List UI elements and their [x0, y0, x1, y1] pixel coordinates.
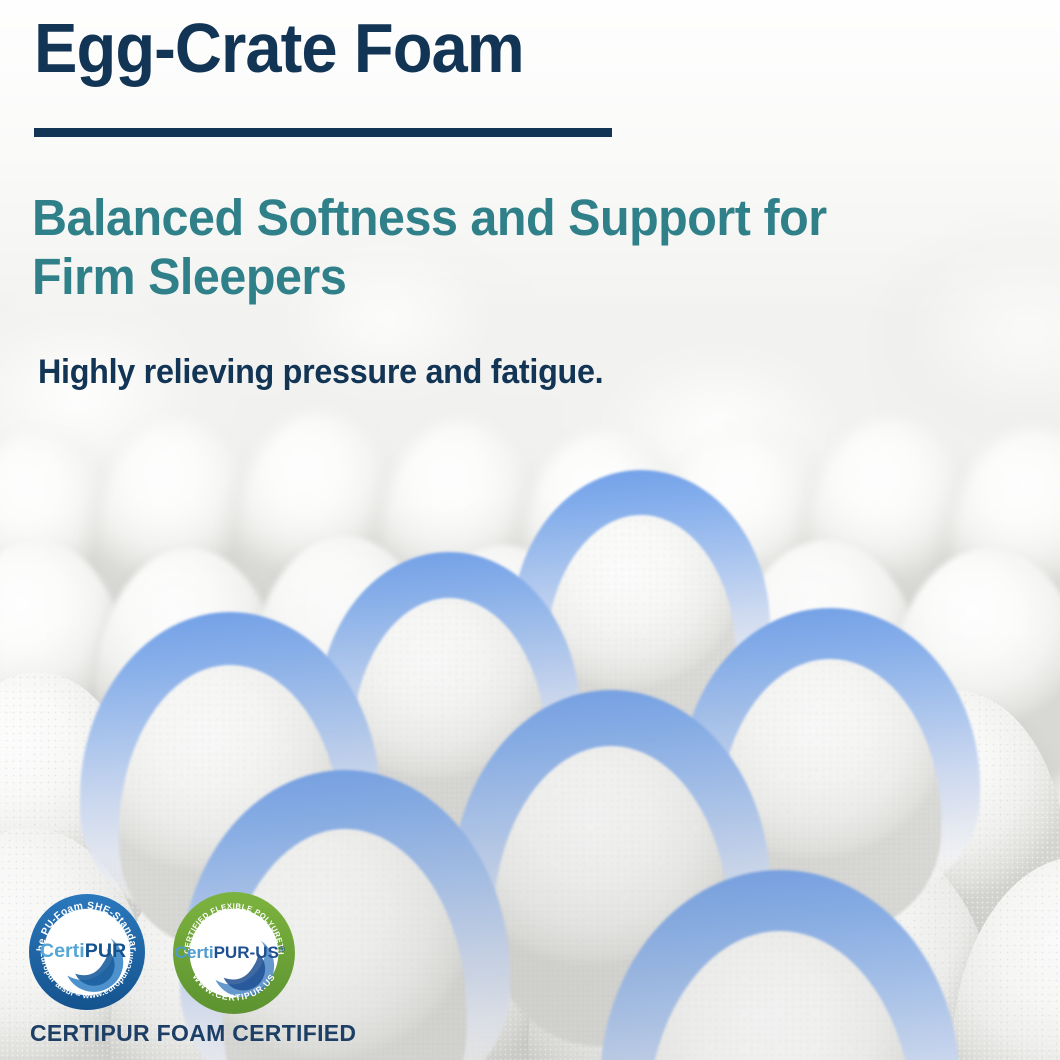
certipur-eu-badge-icon: The PU-Foam SHE-Standard Europur aisbl –… [28, 893, 146, 1011]
certipur-us-center-text: CertiPUR-US® [175, 943, 285, 962]
page-tagline: Highly relieving pressure and fatigue. [38, 352, 603, 393]
certification-caption: CERTIPUR FOAM CERTIFIED [30, 1020, 356, 1047]
title-divider [34, 128, 612, 137]
page-title: Egg-Crate Foam [34, 12, 524, 85]
certipur-us-badge-icon: CONTAINS CERTIFIED FLEXIBLE POLYURETHANE… [172, 891, 296, 1015]
page-subtitle: Balanced Softness and Support for Firm S… [32, 188, 925, 306]
product-feature-banner: Egg-Crate Foam Balanced Softness and Sup… [0, 0, 1060, 1060]
certipur-eu-center-text: CertiPUR [40, 940, 126, 962]
banner-text-layer: Egg-Crate Foam Balanced Softness and Sup… [0, 0, 1060, 1060]
